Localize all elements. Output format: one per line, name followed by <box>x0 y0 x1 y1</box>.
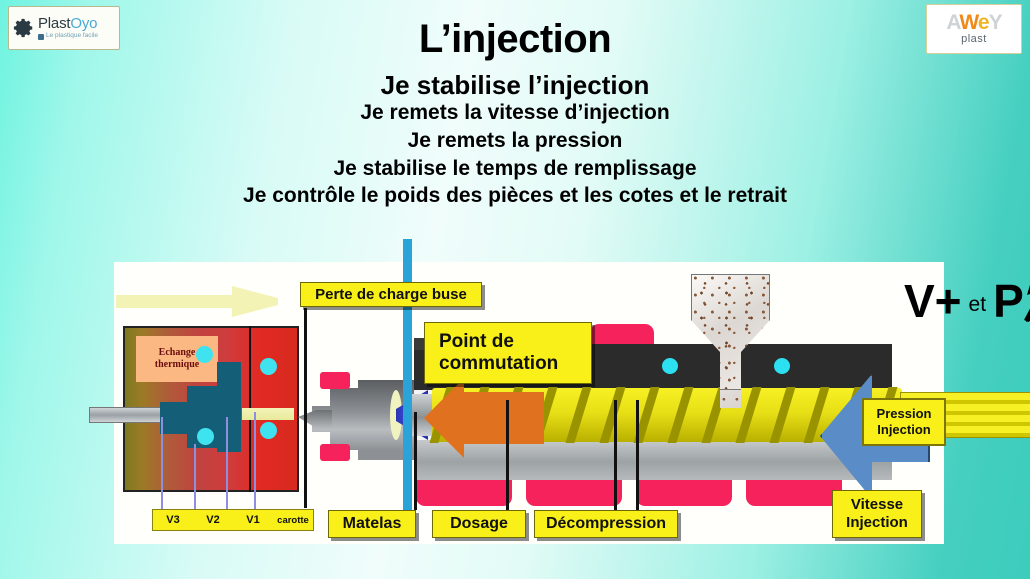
heater-band <box>526 480 622 506</box>
callout-point-de-commutation[interactable]: Point de commutation <box>424 322 592 384</box>
page-title: L’injection <box>0 18 1030 60</box>
v-plus-text: V+ <box>904 281 962 322</box>
leader-decompression <box>636 400 639 510</box>
leader-matelas <box>414 412 417 510</box>
leader-carotte <box>254 412 256 517</box>
phase-label-carotte: carotte <box>273 515 313 526</box>
cavity-part-v1 <box>217 362 241 452</box>
leader-v3 <box>161 417 163 517</box>
phase-label-v3: V3 <box>153 514 193 526</box>
cavity-part-v3 <box>160 402 187 434</box>
leader-perte <box>304 308 307 508</box>
p-text: P <box>993 281 1024 322</box>
bullet-line-3: Je stabilise le temps de remplissage <box>0 155 1030 183</box>
callout-vitesse-injection[interactable]: Vitesse Injection <box>832 490 922 538</box>
thermocouple-icon <box>774 358 790 374</box>
heading-block: L’injection Je stabilise l’injection Je … <box>0 18 1030 210</box>
cooling-channel-icon <box>196 346 213 363</box>
callout-matelas[interactable]: Matelas <box>328 510 416 538</box>
bullet-line-4: Je contrôle le poids des pièces et les c… <box>0 182 1030 210</box>
heater-band <box>320 444 350 461</box>
heater-band <box>416 480 512 506</box>
cooling-channel-icon <box>260 422 277 439</box>
bullet-line-2: Je remets la pression <box>0 127 1030 155</box>
cooling-channel-icon <box>260 358 277 375</box>
bullet-line-1: Je remets la vitesse d’injection <box>0 99 1030 127</box>
vp-note: V+ et P <box>904 278 1030 322</box>
heater-band <box>590 324 654 344</box>
thermocouple-icon <box>662 358 678 374</box>
callout-decompression[interactable]: Décompression <box>534 510 678 538</box>
heater-band <box>320 372 350 389</box>
phase-label-v2: V2 <box>193 514 233 526</box>
barrel-lower <box>414 440 892 480</box>
injection-diagram: Echange thermique V3 V2 V1 carotte <box>114 262 944 544</box>
phase-label-v1: V1 <box>233 514 273 526</box>
leader-v1 <box>226 417 228 517</box>
et-text: et <box>962 293 994 322</box>
phase-label-bar: V3 V2 V1 carotte <box>152 509 314 531</box>
callout-dosage[interactable]: Dosage <box>432 510 526 538</box>
leader-dosage-right <box>614 400 617 510</box>
up-right-arrow-icon <box>1022 278 1030 322</box>
melt-cone <box>232 286 278 317</box>
callout-perte-de-charge-buse[interactable]: Perte de charge buse <box>300 282 482 307</box>
heater-band <box>746 480 842 506</box>
leader-dosage-left <box>506 400 509 510</box>
pression-injection-label: Pression Injection <box>862 398 946 446</box>
ejector-rod <box>89 407 161 423</box>
heater-band <box>636 480 732 506</box>
sprue-channel <box>242 408 294 420</box>
cooling-channel-icon <box>197 428 214 445</box>
leader-v2 <box>194 444 196 517</box>
page-subtitle: Je stabilise l’injection <box>0 72 1030 99</box>
